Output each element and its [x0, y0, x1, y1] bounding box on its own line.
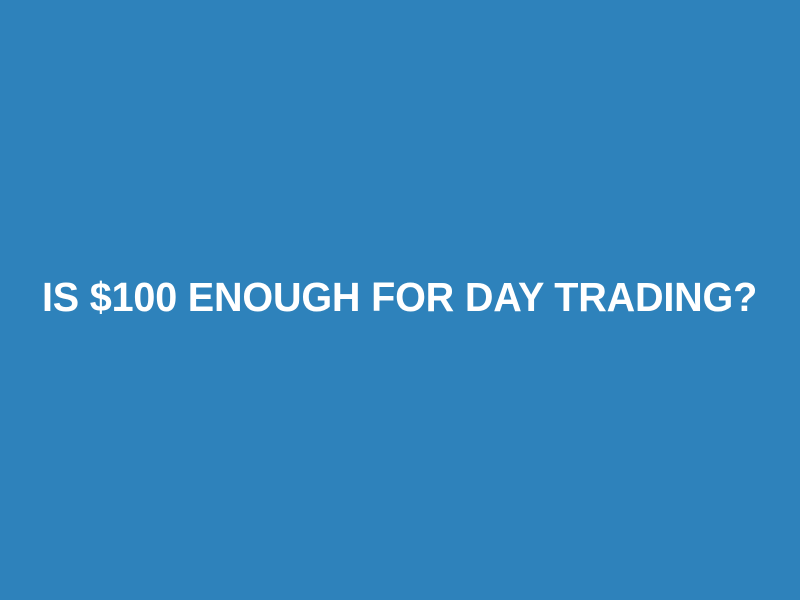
headline-container: IS $100 ENOUGH FOR DAY TRADING? — [0, 275, 800, 321]
page-title: IS $100 ENOUGH FOR DAY TRADING? — [42, 275, 757, 321]
article-banner: IS $100 ENOUGH FOR DAY TRADING? — [0, 0, 800, 600]
